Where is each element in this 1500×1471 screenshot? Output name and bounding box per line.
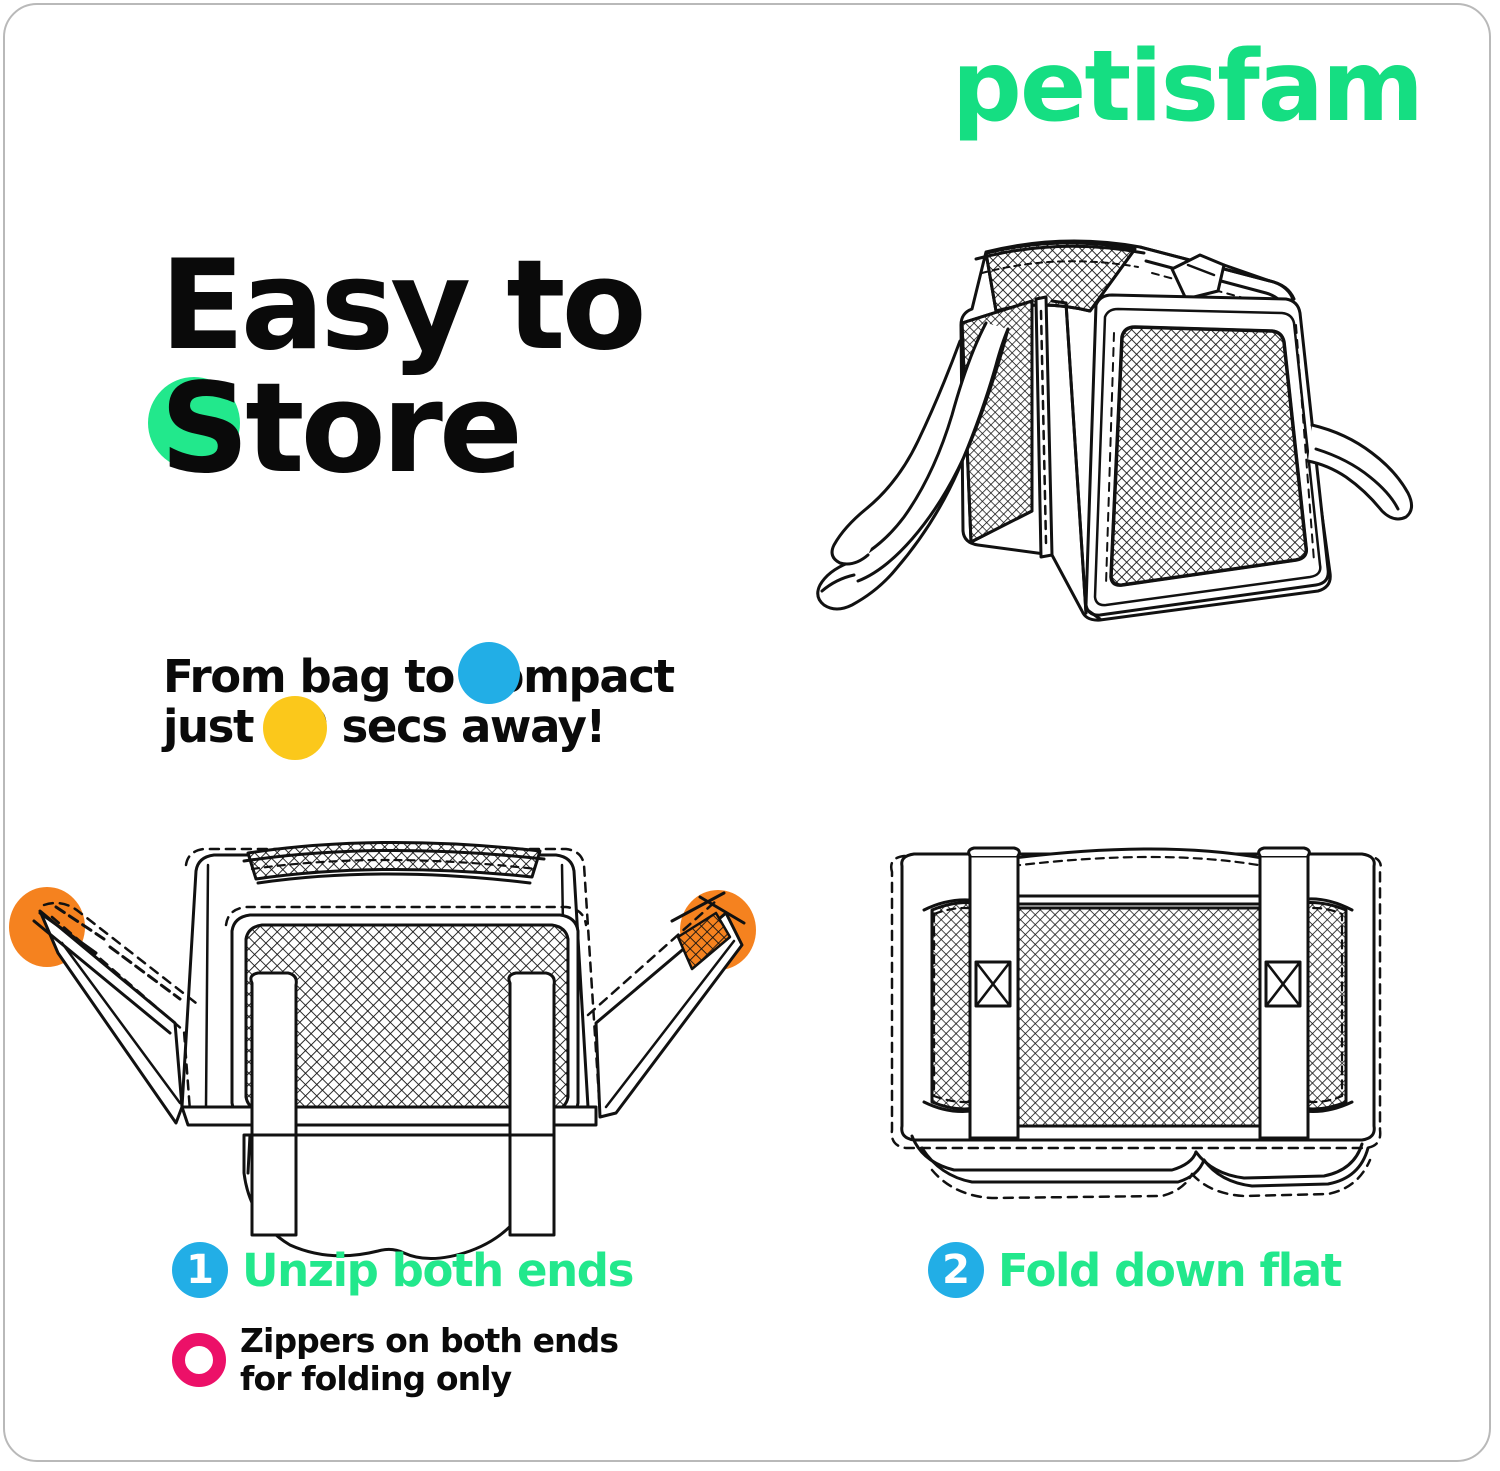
pink-ring-icon bbox=[172, 1333, 226, 1387]
step-1-label: Unzip both ends bbox=[242, 1244, 633, 1297]
headline-line-2: Store bbox=[160, 357, 519, 501]
yellow-circle-highlight bbox=[263, 696, 327, 760]
step-2-caption: 2 Fold down flat bbox=[928, 1242, 1341, 1298]
zipper-note-line-2: for folding only bbox=[240, 1360, 618, 1398]
subtitle-line-1: From bag to compact bbox=[163, 650, 674, 703]
subtitle-line-2: just 10 secs away! bbox=[163, 700, 605, 753]
zipper-note-text: Zippers on both ends for folding only bbox=[240, 1322, 618, 1397]
subtitle-line-1-wrap: From bag to compact bbox=[163, 652, 723, 702]
carrier-bag-hero-illustration bbox=[800, 225, 1430, 630]
step-1-number-badge: 1 bbox=[172, 1242, 228, 1298]
subtitle-line-2-wrap: just 10 secs away! bbox=[163, 702, 723, 752]
step-1-caption: 1 Unzip both ends bbox=[172, 1242, 633, 1298]
carrier-bag-step1-illustration bbox=[0, 835, 770, 1265]
carrier-bag-step2-illustration bbox=[862, 830, 1422, 1230]
headline-line-2-wrap: Store bbox=[160, 371, 780, 488]
step-2-number-badge: 2 bbox=[928, 1242, 984, 1298]
zipper-note: Zippers on both ends for folding only bbox=[172, 1322, 618, 1397]
page-title: Easy to Store bbox=[160, 248, 780, 487]
subtitle: From bag to compact just 10 secs away! bbox=[163, 652, 723, 753]
promo-image-root: petisfam Easy to Store From bag to compa… bbox=[0, 0, 1500, 1471]
brand-logo-petisfam: petisfam bbox=[952, 38, 1422, 136]
zipper-note-line-1: Zippers on both ends bbox=[240, 1322, 618, 1360]
step-2-label: Fold down flat bbox=[998, 1244, 1341, 1297]
blue-circle-highlight bbox=[458, 642, 520, 704]
